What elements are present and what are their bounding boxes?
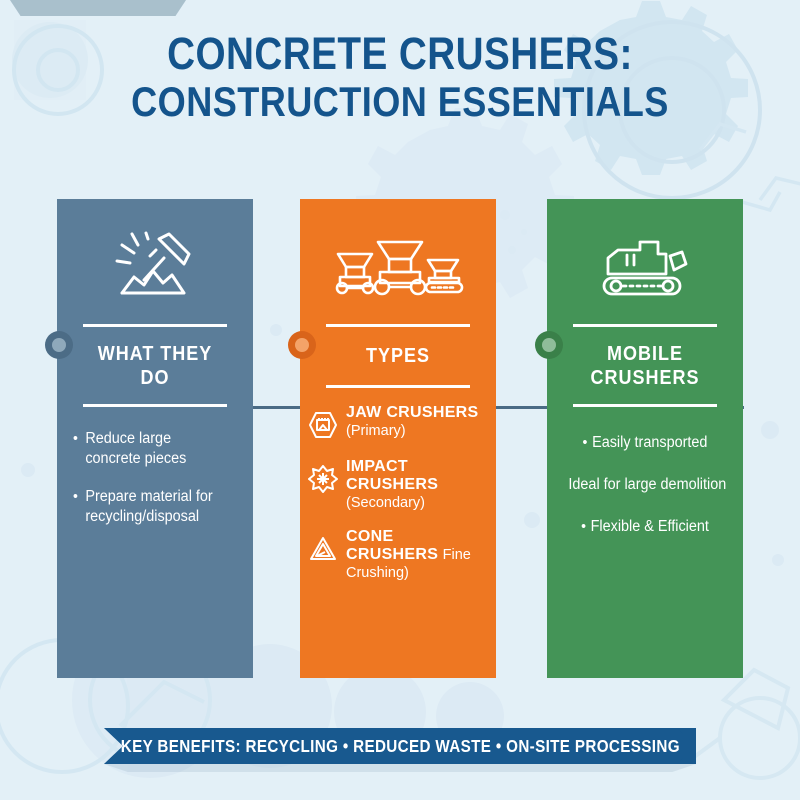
- panel-title-what-they-do: WHAT THEY DO: [90, 327, 220, 404]
- title-line-2: CONSTRUCTION ESSENTIALS: [56, 80, 744, 125]
- hammer-breaking-rock-icon: [57, 199, 253, 311]
- bullet-list-what-they-do: • Reduce large concrete pieces • Prepare…: [73, 429, 237, 526]
- banner-inner: KEY BENEFITS: RECYCLING • REDUCED WASTE …: [104, 728, 696, 764]
- panel-types[interactable]: TYPES JAW CRUSHERS (Prima: [300, 199, 496, 678]
- connector-dot-types: [288, 331, 316, 359]
- bullet-text: Reduce large concrete pieces: [85, 429, 225, 469]
- impact-crusher-burst-icon: [306, 462, 340, 496]
- panel-body-types: TYPES JAW CRUSHERS (Prima: [300, 199, 496, 678]
- panel-body-what-they-do: WHAT THEY DO • Reduce large concrete pie…: [57, 199, 253, 678]
- heading-rule-bottom: [326, 385, 470, 388]
- tracked-mobile-crusher-icon: [547, 199, 743, 311]
- list-item: •Flexible & Efficient: [559, 517, 730, 537]
- bullet-dot-icon: •: [583, 434, 588, 451]
- banner-shadow: [104, 764, 696, 772]
- list-item: JAW CRUSHERS (Primary): [306, 404, 486, 442]
- heading-rule-bottom: [83, 404, 227, 407]
- panel-title-types: TYPES: [333, 327, 463, 385]
- list-item: • Prepare material for recycling/disposa…: [73, 487, 226, 527]
- list-item: Ideal for large demolition: [559, 475, 730, 495]
- connector-dot-inner: [52, 338, 66, 352]
- type-subtitle: (Secondary): [346, 495, 425, 511]
- type-subtitle: (Primary): [346, 423, 406, 439]
- type-texts: CONE CRUSHERS Fine Crushing): [346, 528, 486, 582]
- bullet-text: Ideal for large demolition: [568, 476, 726, 493]
- panel-shadow-mobile-crushers: [10, 0, 186, 16]
- panel-heading-types: TYPES: [326, 324, 470, 388]
- cone-crusher-triangle-icon: [306, 532, 340, 566]
- panel-body-mobile-crushers: MOBILE CRUSHERS •Easily transported Idea…: [547, 199, 743, 678]
- three-crusher-machines-icon: [300, 199, 496, 311]
- bullet-dot-icon: •: [581, 518, 586, 535]
- page-title: CONCRETE CRUSHERS: CONSTRUCTION ESSENTIA…: [0, 30, 800, 124]
- type-name: JAW CRUSHERS: [346, 404, 479, 421]
- list-item: CONE CRUSHERS Fine Crushing): [306, 528, 486, 582]
- panel-heading-mobile-crushers: MOBILE CRUSHERS: [573, 324, 717, 407]
- type-name: CONE CRUSHERS: [346, 528, 438, 563]
- bullet-text: Flexible & Efficient: [591, 518, 709, 535]
- panel-heading-what-they-do: WHAT THEY DO: [83, 324, 227, 407]
- connector-dot-inner: [295, 338, 309, 352]
- bullet-dot-icon: •: [73, 429, 78, 469]
- infographic-canvas: CONCRETE CRUSHERS: CONSTRUCTION ESSENTIA…: [0, 0, 800, 800]
- title-line-1: CONCRETE CRUSHERS:: [56, 30, 744, 78]
- type-name: IMPACT CRUSHERS: [346, 458, 438, 493]
- key-benefits-banner: KEY BENEFITS: RECYCLING • REDUCED WASTE …: [104, 728, 696, 764]
- bullet-dot-icon: •: [73, 487, 78, 527]
- types-list: JAW CRUSHERS (Primary) IMPACT CRUSHERS (…: [306, 404, 486, 582]
- type-texts: JAW CRUSHERS (Primary): [346, 404, 486, 440]
- panel-what-they-do[interactable]: WHAT THEY DO • Reduce large concrete pie…: [57, 199, 253, 678]
- list-item: IMPACT CRUSHERS (Secondary): [306, 458, 486, 512]
- banner-text: KEY BENEFITS: RECYCLING • REDUCED WASTE …: [120, 736, 679, 757]
- bullet-list-mobile-crushers: •Easily transported Ideal for large demo…: [553, 433, 737, 536]
- type-texts: IMPACT CRUSHERS (Secondary): [346, 458, 486, 512]
- bullet-text: Prepare material for recycling/disposal: [85, 487, 225, 527]
- panel-title-mobile-crushers: MOBILE CRUSHERS: [580, 327, 710, 404]
- jaw-crusher-hexagon-icon: [306, 408, 340, 442]
- bullet-text: Easily transported: [592, 434, 707, 451]
- panel-mobile-crushers[interactable]: MOBILE CRUSHERS •Easily transported Idea…: [547, 199, 743, 678]
- list-item: •Easily transported: [559, 433, 730, 453]
- list-item: • Reduce large concrete pieces: [73, 429, 226, 469]
- connector-dot-what-they-do: [45, 331, 73, 359]
- heading-rule-bottom: [573, 404, 717, 407]
- connector-dot-inner: [542, 338, 556, 352]
- connector-dot-mobile-crushers: [535, 331, 563, 359]
